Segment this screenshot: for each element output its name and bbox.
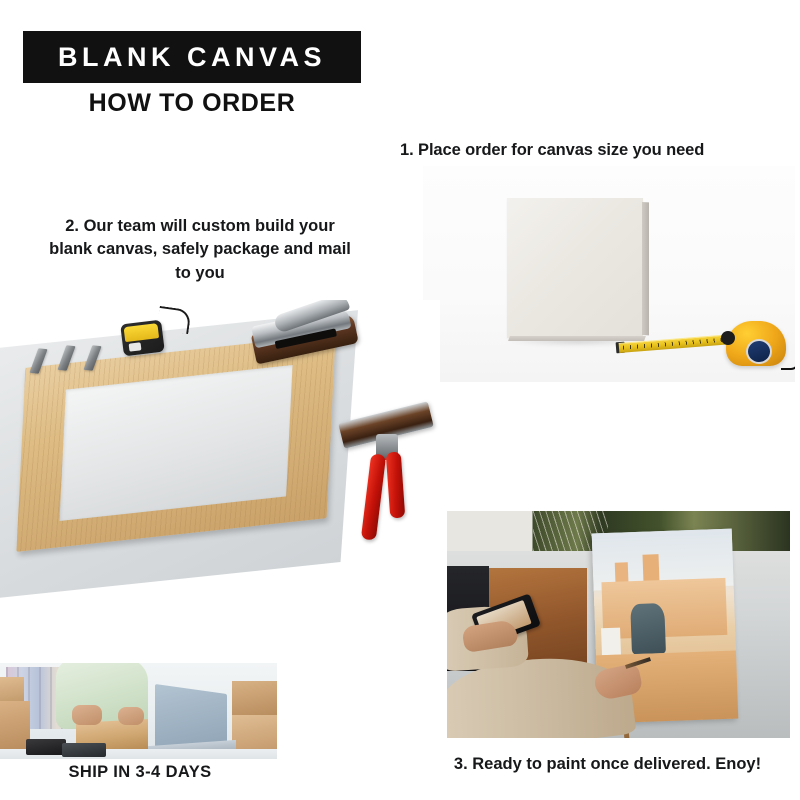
calculator-icon bbox=[26, 739, 66, 755]
cardboard-box-right-top bbox=[232, 681, 277, 719]
page-subtitle: HOW TO ORDER bbox=[23, 89, 361, 118]
step-3-caption: 3. Ready to paint once delivered. Enoy! bbox=[420, 755, 795, 774]
small-tape-measure-strap bbox=[156, 306, 191, 334]
artist-painting-on-easel-photo bbox=[447, 511, 790, 738]
painting-white-patch bbox=[601, 628, 622, 655]
step-2-caption: 2. Our team will custom build your blank… bbox=[45, 215, 355, 285]
infographic-page: BLANK CANVAS HOW TO ORDER 1. Place order… bbox=[0, 0, 800, 800]
packing-parcel-at-desk-photo bbox=[0, 663, 277, 759]
packer-hand-left bbox=[72, 705, 102, 725]
stretched-canvas-surface bbox=[59, 365, 292, 521]
cardboard-box-right-bottom bbox=[232, 715, 277, 751]
tape-measure-housing bbox=[726, 321, 786, 366]
blank-canvas-side-edge bbox=[642, 202, 649, 335]
painting-figure-shape bbox=[631, 603, 666, 654]
step-1-caption: 1. Place order for canvas size you need bbox=[400, 141, 790, 160]
blank-canvas-front bbox=[507, 198, 643, 338]
tablet-device bbox=[62, 743, 106, 757]
canvas-stretching-pliers bbox=[340, 412, 436, 562]
shipping-time-label: SHIP IN 3-4 DAYS bbox=[10, 763, 270, 782]
packer-hand-right bbox=[118, 707, 144, 725]
page-title: BLANK CANVAS bbox=[58, 44, 326, 71]
tape-measure-strap bbox=[781, 356, 795, 370]
blank-canvas-with-tape-measure-photo bbox=[423, 166, 795, 382]
wooden-stretcher-frame-with-tools-photo bbox=[0, 300, 440, 620]
pliers-handle-right bbox=[386, 452, 406, 519]
cardboard-box-left-top bbox=[0, 677, 24, 703]
blank-canvas-bottom-edge bbox=[508, 336, 646, 341]
pliers-handle-left bbox=[361, 453, 386, 540]
page-title-banner: BLANK CANVAS bbox=[23, 31, 361, 83]
